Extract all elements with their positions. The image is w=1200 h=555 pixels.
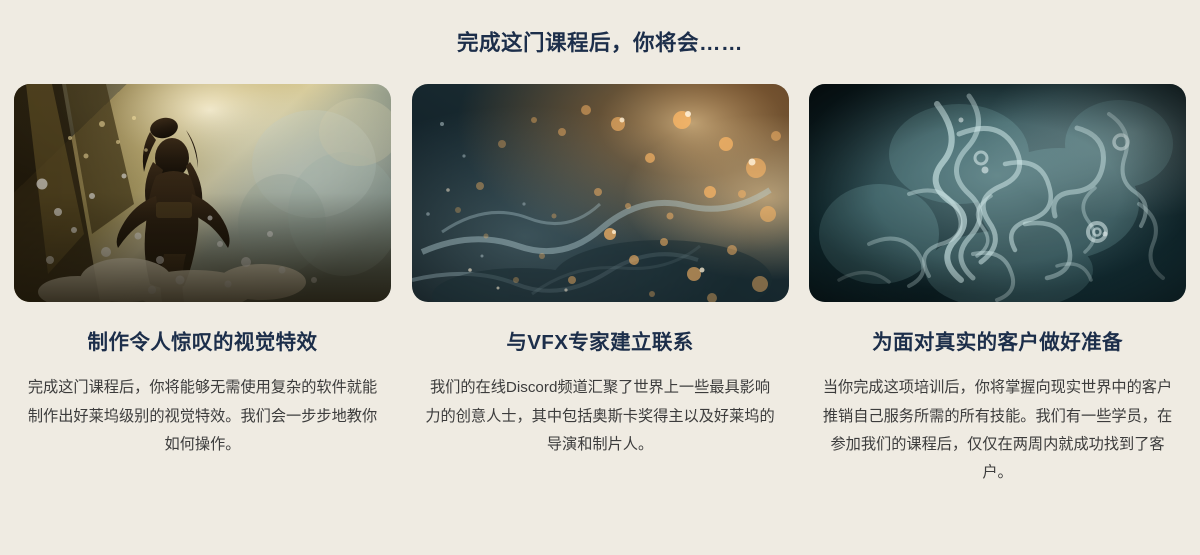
glowing-orange-particles-nebula-vfx-shot <box>412 84 789 302</box>
card-image-3-graphic <box>809 84 1186 302</box>
card-body-text: 完成这门课程后，你将能够无需使用复杂的软件就能制作出好莱坞级别的视觉特效。我们会… <box>27 374 379 459</box>
section-title: 完成这门课程后，你将会…… <box>0 0 1200 57</box>
card-body-text: 我们的在线Discord频道汇聚了世界上一些最具影响力的创意人士，其中包括奥斯卡… <box>424 374 776 459</box>
benefits-section: 完成这门课程后，你将会…… <box>0 0 1200 555</box>
card-image-2-graphic <box>412 84 789 302</box>
teal-smoke-wisps-vfx-shot <box>809 84 1186 302</box>
benefit-card: 与VFX专家建立联系 我们的在线Discord频道汇聚了世界上一些最具影响力的创… <box>412 84 789 488</box>
card-heading: 与VFX专家建立联系 <box>506 331 693 356</box>
benefit-card: 为面对真实的客户做好准备 当你完成这项培训后，你将掌握向现实世界中的客户推销自己… <box>809 84 1186 488</box>
card-heading: 为面对真实的客户做好准备 <box>872 331 1123 356</box>
benefit-card-list: 制作令人惊叹的视觉特效 完成这门课程后，你将能够无需使用复杂的软件就能制作出好莱… <box>0 84 1200 488</box>
warrior-running-through-water-vfx-shot <box>14 84 391 302</box>
card-heading: 制作令人惊叹的视觉特效 <box>88 331 318 356</box>
card-body-text: 当你完成这项培训后，你将掌握向现实世界中的客户推销自己服务所需的所有技能。我们有… <box>822 374 1174 487</box>
card-image-1-graphic <box>14 84 391 302</box>
benefit-card: 制作令人惊叹的视觉特效 完成这门课程后，你将能够无需使用复杂的软件就能制作出好莱… <box>14 84 391 488</box>
